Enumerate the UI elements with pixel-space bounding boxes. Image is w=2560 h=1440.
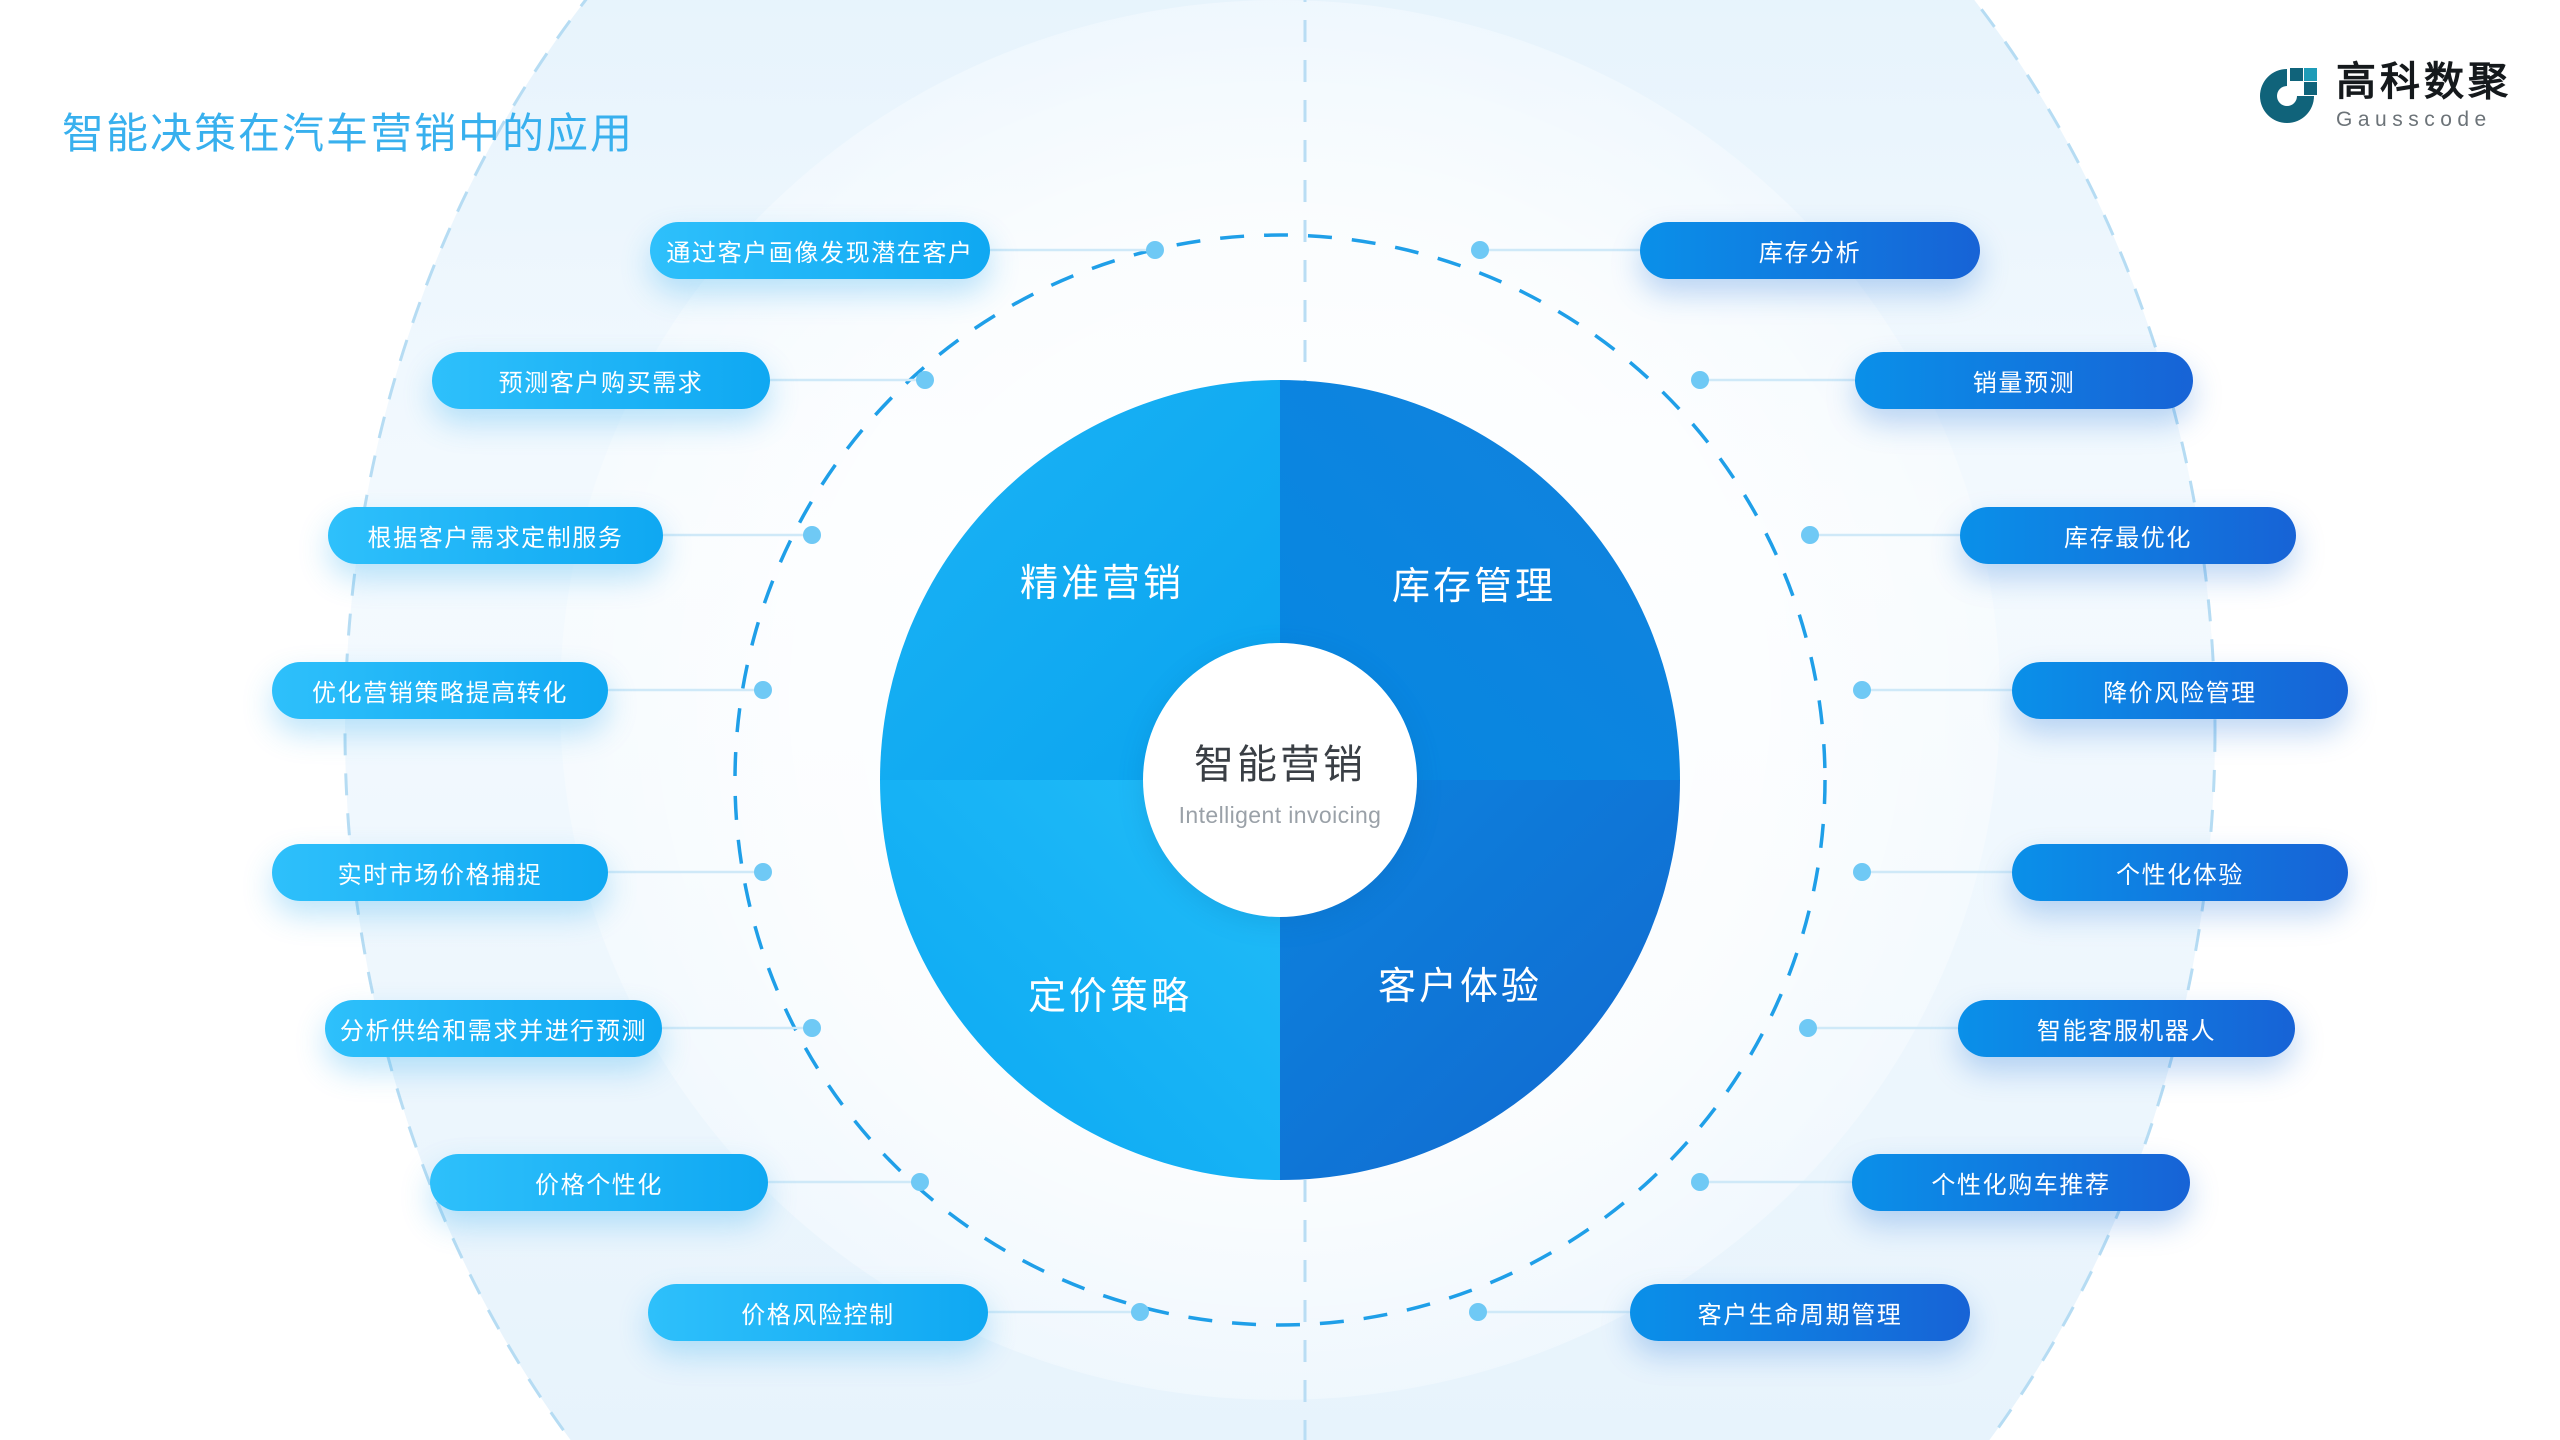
left-pill-1[interactable]: 通过客户画像发现潜在客户 xyxy=(650,222,990,279)
infographic-canvas: 智能决策在汽车营销中的应用 高科数聚 Gausscode 精准营销 库存管理 定… xyxy=(0,0,2560,1440)
quadrant-label-customer-experience: 客户体验 xyxy=(1378,955,1542,1010)
right-pill-7[interactable]: 个性化购车推荐 xyxy=(1852,1154,2190,1211)
right-pill-8[interactable]: 客户生命周期管理 xyxy=(1630,1284,1970,1341)
left-pill-7[interactable]: 价格个性化 xyxy=(430,1154,768,1211)
center-title-cn: 智能营销 xyxy=(1194,732,1366,790)
left-pill-6[interactable]: 分析供给和需求并进行预测 xyxy=(325,1000,662,1057)
right-pill-5[interactable]: 个性化体验 xyxy=(2012,844,2348,901)
right-pill-6[interactable]: 智能客服机器人 xyxy=(1958,1000,2295,1057)
quadrant-label-precision-marketing: 精准营销 xyxy=(1020,552,1184,607)
left-pill-8[interactable]: 价格风险控制 xyxy=(648,1284,988,1341)
right-pill-3[interactable]: 库存最优化 xyxy=(1960,507,2296,564)
left-pill-3[interactable]: 根据客户需求定制服务 xyxy=(328,507,663,564)
left-pill-2[interactable]: 预测客户购买需求 xyxy=(432,352,770,409)
page-title: 智能决策在汽车营销中的应用 xyxy=(62,100,634,161)
brand-logo: 高科数聚 Gausscode xyxy=(2256,62,2512,130)
left-pill-4[interactable]: 优化营销策略提高转化 xyxy=(272,662,608,719)
right-pill-2[interactable]: 销量预测 xyxy=(1855,352,2193,409)
center-title-en: Intelligent invoicing xyxy=(1179,802,1382,829)
right-pill-1[interactable]: 库存分析 xyxy=(1640,222,1980,279)
quadrant-label-pricing-strategy: 定价策略 xyxy=(1028,965,1192,1020)
right-pill-4[interactable]: 降价风险管理 xyxy=(2012,662,2348,719)
center-hub: 智能营销 Intelligent invoicing xyxy=(1143,643,1417,917)
gausscode-g-mark-icon xyxy=(2256,65,2318,127)
left-pill-5[interactable]: 实时市场价格捕捉 xyxy=(272,844,608,901)
brand-name-cn: 高科数聚 xyxy=(2336,62,2512,102)
quadrant-label-inventory-management: 库存管理 xyxy=(1392,555,1556,610)
brand-name-en: Gausscode xyxy=(2336,109,2512,130)
